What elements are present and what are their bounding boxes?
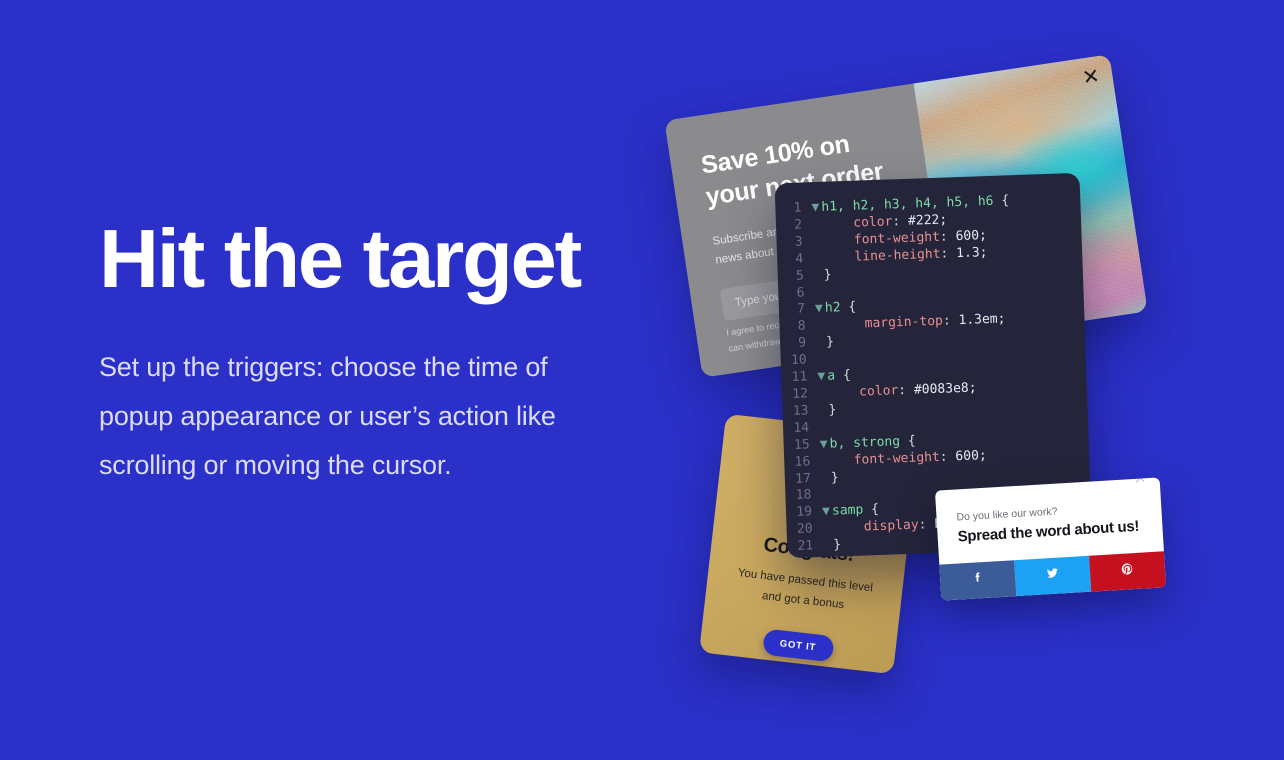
pinterest-icon bbox=[1119, 561, 1135, 582]
social-share-content: Do you like our work? Spread the word ab… bbox=[935, 477, 1163, 546]
line-number: 12 bbox=[782, 386, 817, 404]
line-number: 18 bbox=[785, 487, 820, 505]
line-number: 15 bbox=[783, 437, 818, 455]
popup-showcase: Save 10% on your next order Subscribe an… bbox=[0, 0, 1284, 760]
fold-arrow-icon bbox=[812, 284, 825, 301]
fold-arrow-icon[interactable]: ▼ bbox=[820, 504, 833, 521]
fold-arrow-icon bbox=[816, 386, 829, 403]
fold-arrow-icon[interactable]: ▼ bbox=[813, 301, 826, 318]
social-share-popup[interactable]: Do you like our work? Spread the word ab… bbox=[935, 477, 1166, 600]
fold-arrow-icon bbox=[821, 538, 834, 555]
twitter-icon bbox=[1045, 566, 1061, 587]
congrats-body: You have passed this level and got a bon… bbox=[705, 561, 903, 622]
fold-arrow-icon bbox=[810, 217, 823, 234]
share-pinterest-button[interactable] bbox=[1089, 551, 1166, 591]
fold-arrow-icon bbox=[816, 403, 829, 420]
fold-arrow-icon bbox=[820, 521, 833, 538]
line-number: 5 bbox=[778, 268, 813, 286]
close-icon[interactable] bbox=[1134, 477, 1146, 483]
line-number: 7 bbox=[779, 302, 814, 320]
line-number: 14 bbox=[783, 420, 818, 438]
line-number: 2 bbox=[776, 217, 811, 235]
fold-arrow-icon bbox=[811, 251, 824, 268]
line-number: 16 bbox=[784, 454, 819, 472]
fold-arrow-icon[interactable]: ▼ bbox=[809, 200, 822, 217]
fold-arrow-icon[interactable]: ▼ bbox=[817, 436, 830, 453]
line-number: 19 bbox=[786, 504, 821, 522]
line-number: 21 bbox=[787, 538, 822, 556]
line-number: 6 bbox=[778, 285, 813, 303]
fold-arrow-icon[interactable]: ▼ bbox=[815, 369, 828, 386]
line-number: 10 bbox=[780, 352, 815, 370]
fold-arrow-icon bbox=[813, 318, 826, 335]
fold-arrow-icon bbox=[812, 267, 825, 284]
line-number: 1 bbox=[775, 200, 810, 218]
line-number: 8 bbox=[779, 319, 814, 337]
share-twitter-button[interactable] bbox=[1014, 556, 1091, 596]
close-icon[interactable] bbox=[1082, 67, 1099, 84]
fold-arrow-icon bbox=[819, 487, 832, 504]
facebook-icon bbox=[970, 570, 986, 591]
line-number: 11 bbox=[781, 369, 816, 387]
fold-arrow-icon bbox=[818, 453, 831, 470]
fold-arrow-icon bbox=[814, 335, 827, 352]
social-button-bar bbox=[939, 551, 1166, 600]
line-number: 3 bbox=[776, 234, 811, 252]
line-number: 20 bbox=[786, 521, 821, 539]
share-facebook-button[interactable] bbox=[939, 560, 1016, 600]
line-number: 13 bbox=[782, 403, 817, 421]
fold-arrow-icon bbox=[817, 419, 830, 436]
got-it-button[interactable]: GOT IT bbox=[762, 629, 834, 663]
line-number: 4 bbox=[777, 251, 812, 269]
page-root: Hit the target Set up the triggers: choo… bbox=[0, 0, 1284, 760]
fold-arrow-icon bbox=[819, 470, 832, 487]
fold-arrow-icon bbox=[814, 352, 827, 369]
fold-arrow-icon bbox=[810, 234, 823, 251]
line-number: 9 bbox=[780, 335, 815, 353]
line-number: 17 bbox=[785, 471, 820, 489]
